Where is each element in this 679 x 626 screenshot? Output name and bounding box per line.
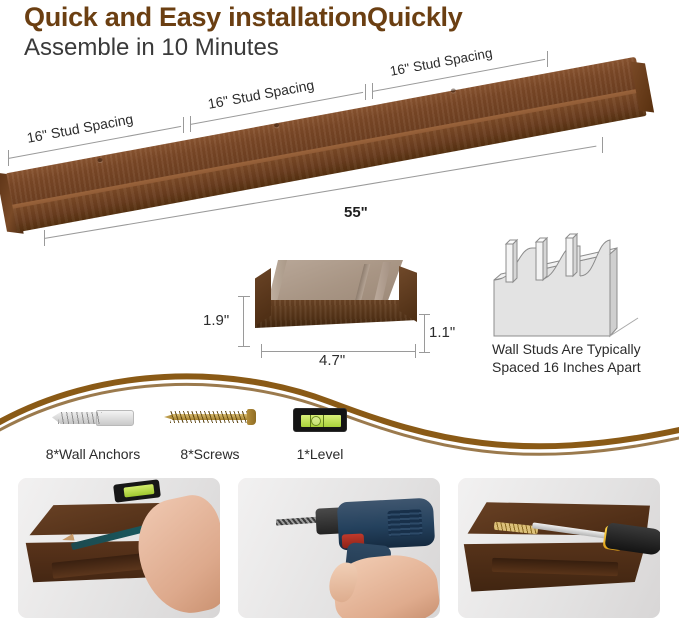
cross-section-front-edge [255, 300, 415, 328]
height-dim-cap-bottom [238, 346, 250, 347]
level-vial-window [301, 415, 341, 427]
wall-studs-caption-line1: Wall Studs Are Typically [492, 340, 662, 358]
screw-icon [164, 408, 256, 426]
wall-anchor-icon [52, 408, 134, 428]
hardware-label-level: 1*Level [297, 446, 344, 462]
shelf-length-label: 55" [344, 204, 368, 221]
cross-section-height-label: 1.9" [203, 312, 229, 329]
hardware-label-wall-anchors: 8*Wall Anchors [46, 446, 140, 462]
wall-studs-icon [470, 232, 670, 342]
hardware-item-level: 1*Level [275, 404, 365, 464]
width-dim-tick-right [415, 344, 416, 358]
wall-studs-caption: Wall Studs Are Typically Spaced 16 Inche… [492, 340, 662, 376]
level-bubble [311, 416, 321, 426]
lip-dim-cap-bottom [419, 352, 430, 353]
photo2-drill-vents [387, 509, 422, 537]
photo1-level-vial [123, 484, 154, 498]
lip-dim-line [424, 314, 425, 352]
screw-threads [170, 411, 248, 423]
step-photos [0, 478, 679, 626]
lip-dim-cap-top [419, 314, 430, 315]
page-title: Quick and Easy installationQuickly [24, 2, 462, 33]
hardware-label-screws: 8*Screws [180, 446, 239, 462]
width-dim-tick-left [261, 344, 262, 358]
shelf-diagram: 16" Stud Spacing 16" Stud Spacing 16" St… [0, 58, 679, 258]
hardware-item-wall-anchors: 8*Wall Anchors [38, 404, 148, 464]
infographic-page: Quick and Easy installationQuickly Assem… [0, 0, 679, 626]
cross-section-width-label: 4.7" [319, 352, 345, 369]
height-dim-cap-top [238, 296, 250, 297]
photo-mark-with-pencil [18, 478, 220, 618]
cross-section-lip-label: 1.1" [429, 324, 455, 341]
length-dim-tick-left [44, 230, 45, 246]
level-icon [293, 408, 347, 432]
cross-section-diagram: 1.9" 1.1" 4.7" [205, 252, 435, 367]
wall-studs-diagram: Wall Studs Are Typically Spaced 16 Inche… [470, 232, 670, 362]
height-dim-line [243, 296, 244, 346]
photo-drive-screw [458, 478, 660, 618]
hardware-item-screws: 8*Screws [150, 404, 270, 464]
level-mark-right [323, 415, 324, 427]
cross-section-body [255, 260, 415, 335]
screw-head [247, 409, 256, 425]
wall-anchor-ribs [58, 412, 102, 424]
length-dim-tick-right [602, 137, 603, 153]
photo-drill-into-wall [238, 478, 440, 618]
shelf-board [3, 37, 647, 232]
